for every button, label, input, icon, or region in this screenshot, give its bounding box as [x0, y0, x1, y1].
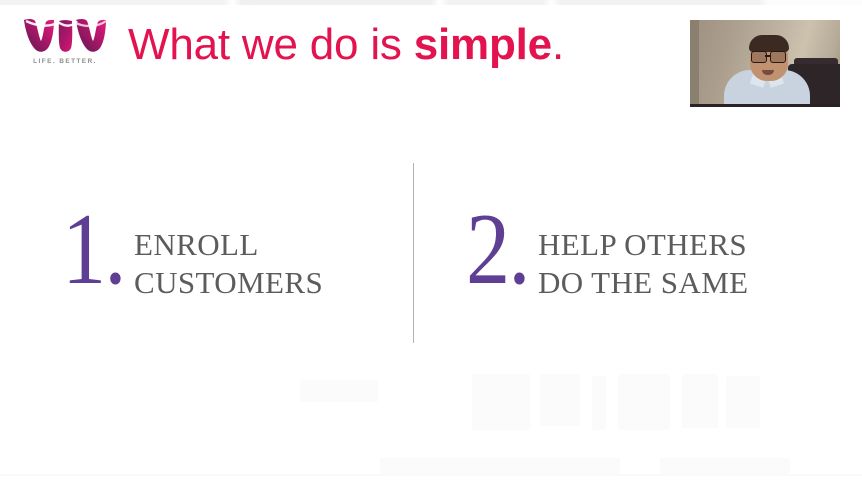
slide-title: What we do is simple. — [128, 17, 564, 73]
ghost-artifact — [726, 376, 760, 428]
ghost-artifact — [682, 374, 718, 428]
presentation-slide: LIFE. BETTER. What we do is simple. 1. E… — [0, 0, 862, 485]
numbered-item-1-text: ENROLL CUSTOMERS — [134, 226, 323, 302]
slide-title-light: What we do is — [128, 20, 414, 69]
ghost-artifact — [660, 458, 790, 474]
ghost-artifact — [592, 376, 606, 430]
numbered-item-2: 2. HELP OTHERS DO THE SAME — [466, 200, 749, 302]
slide-title-period: . — [552, 20, 564, 69]
ghost-artifact — [618, 374, 670, 430]
slide-title-bold: simple — [414, 20, 552, 69]
presenter-glasses-right-lens — [770, 51, 786, 63]
presenter-glasses-left-lens — [751, 51, 767, 63]
ghost-artifact — [300, 380, 378, 402]
top-edge-artifact-band — [0, 0, 862, 5]
numbered-item-1-line2: CUSTOMERS — [134, 264, 323, 302]
numbered-item-1-line1: ENROLL — [134, 226, 323, 264]
numbered-item-2-numeral: 2. — [466, 198, 529, 300]
ghost-artifact — [540, 374, 580, 426]
video-side-wall — [690, 20, 699, 104]
ghost-artifact — [472, 374, 530, 430]
numbered-item-2-text: HELP OTHERS DO THE SAME — [538, 226, 749, 302]
viv-logo-tagline: LIFE. BETTER. — [22, 58, 108, 65]
numbered-item-1: 1. ENROLL CUSTOMERS — [62, 200, 323, 302]
column-divider — [413, 163, 414, 343]
ghost-artifact-line — [0, 474, 862, 476]
numbered-item-2-line1: HELP OTHERS — [538, 226, 749, 264]
numbered-item-1-numeral: 1. — [62, 198, 125, 300]
viv-logo: LIFE. BETTER. — [22, 18, 114, 74]
presenter-hair — [749, 35, 789, 52]
ghost-artifact — [380, 458, 620, 474]
viv-wordmark-icon — [22, 18, 108, 54]
presenter-glasses-bridge — [765, 55, 770, 57]
presenter-video-thumbnail[interactable] — [690, 20, 840, 107]
bottom-compression-artifacts — [0, 372, 862, 485]
numbered-item-2-line2: DO THE SAME — [538, 264, 749, 302]
